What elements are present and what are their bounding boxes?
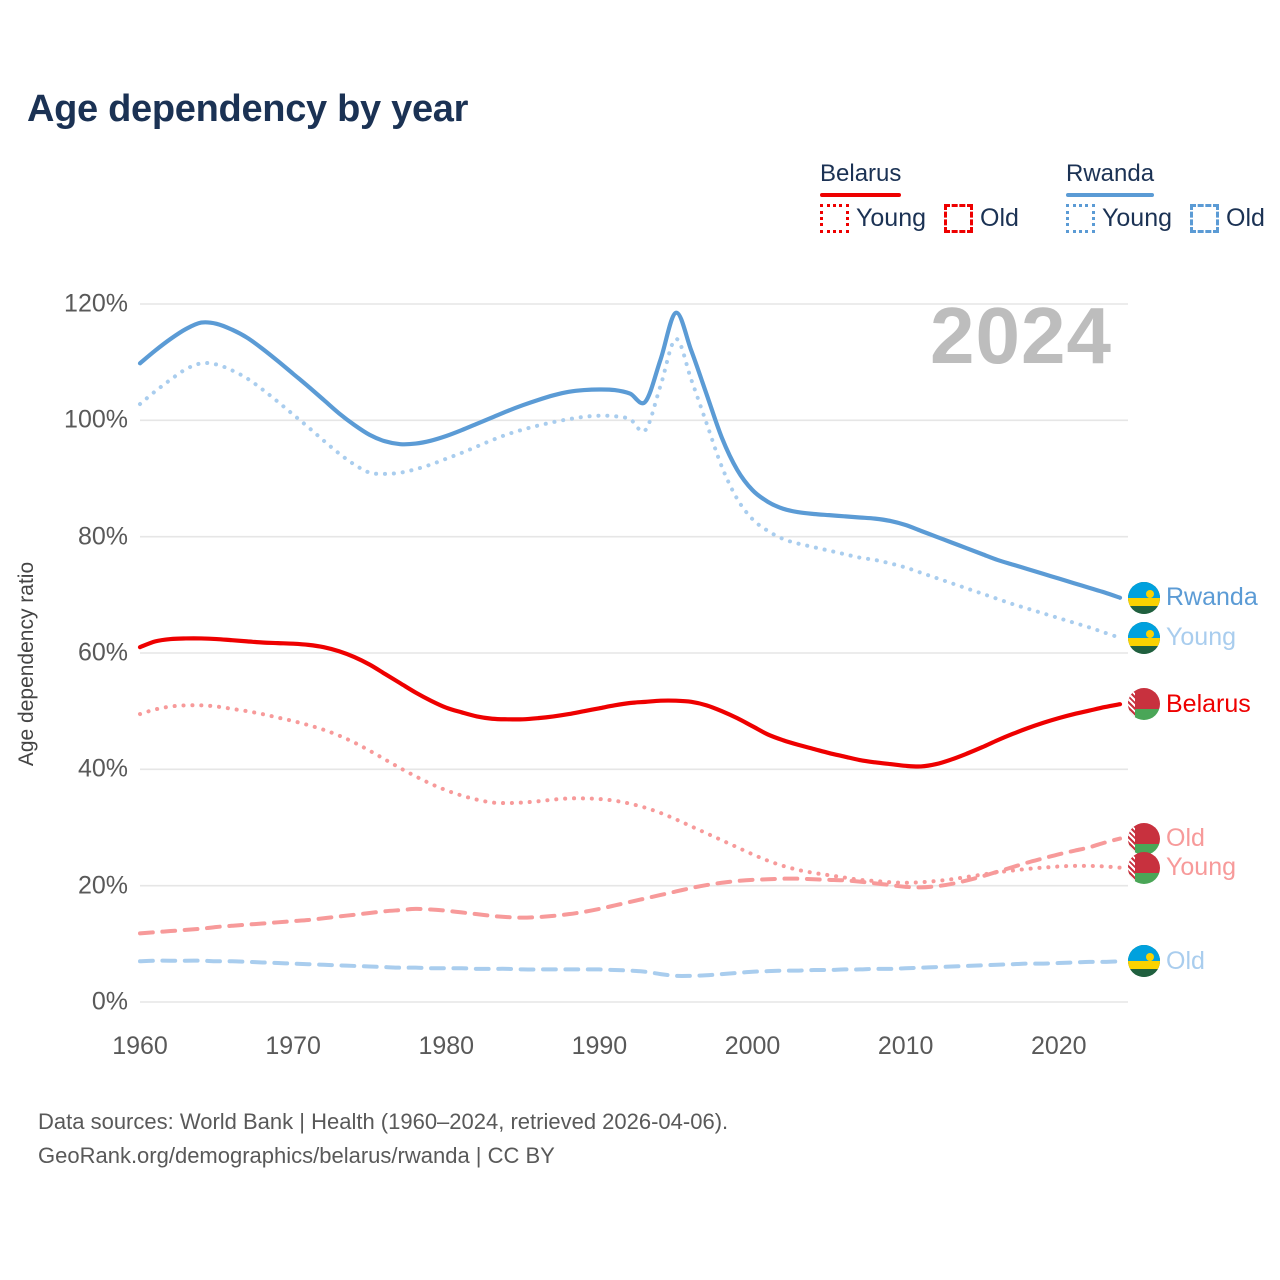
x-tick-label: 1970 <box>265 1032 321 1061</box>
y-tick-label: 20% <box>78 871 128 900</box>
x-tick-label: 1980 <box>418 1032 474 1061</box>
end-label[interactable]: Old <box>1128 945 1205 977</box>
belarus-flag-icon <box>1128 688 1160 720</box>
x-tick-label: 1990 <box>572 1032 628 1061</box>
end-label-text: Rwanda <box>1166 583 1258 612</box>
x-tick-label: 2020 <box>1031 1032 1087 1061</box>
end-label[interactable]: Old <box>1128 823 1205 855</box>
end-label-text: Young <box>1166 623 1236 652</box>
end-label[interactable]: Young <box>1128 622 1236 654</box>
series-line-rwanda-old <box>140 961 1120 976</box>
series-line-belarus-young <box>140 705 1120 883</box>
end-label-text: Old <box>1166 824 1205 853</box>
series-line-belarus <box>140 638 1120 766</box>
plot-svg <box>0 0 1280 1280</box>
end-label-text: Old <box>1166 947 1205 976</box>
end-label-text: Young <box>1166 853 1236 882</box>
belarus-flag-icon <box>1128 823 1160 855</box>
x-tick-label: 2010 <box>878 1032 934 1061</box>
footer-line-attribution: GeoRank.org/demographics/belarus/rwanda … <box>38 1139 728 1173</box>
footer: Data sources: World Bank | Health (1960–… <box>38 1105 728 1173</box>
end-label-text: Belarus <box>1166 690 1251 719</box>
rwanda-flag-icon <box>1128 945 1160 977</box>
series-line-rwanda <box>140 313 1120 598</box>
y-tick-label: 80% <box>78 522 128 551</box>
y-tick-label: 0% <box>92 988 128 1017</box>
x-tick-label: 1960 <box>112 1032 168 1061</box>
rwanda-flag-icon <box>1128 582 1160 614</box>
belarus-flag-icon <box>1128 852 1160 884</box>
y-tick-label: 120% <box>64 290 128 319</box>
end-label[interactable]: Rwanda <box>1128 582 1258 614</box>
y-tick-label: 100% <box>64 406 128 435</box>
chart-page: Age dependency by year Belarus Young Old… <box>0 0 1280 1280</box>
end-label[interactable]: Belarus <box>1128 688 1251 720</box>
gridlines <box>140 304 1128 1002</box>
y-tick-label: 40% <box>78 755 128 784</box>
series-line-rwanda-young <box>140 339 1120 638</box>
x-tick-label: 2000 <box>725 1032 781 1061</box>
footer-line-sources: Data sources: World Bank | Health (1960–… <box>38 1105 728 1139</box>
rwanda-flag-icon <box>1128 622 1160 654</box>
y-tick-label: 60% <box>78 639 128 668</box>
plot-area: 2024 Age dependency ratio 0%20%40%60%80%… <box>0 0 1280 1280</box>
end-label[interactable]: Young <box>1128 852 1236 884</box>
